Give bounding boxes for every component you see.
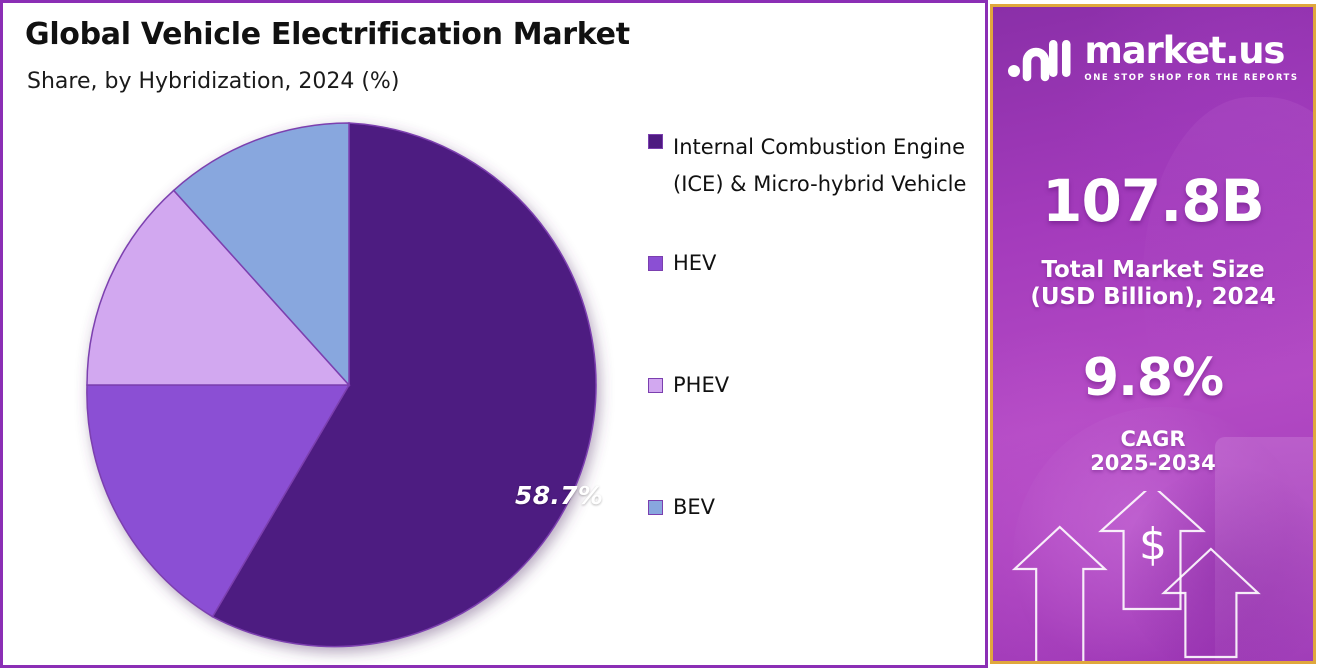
legend-swatch-icon-ice	[648, 134, 663, 149]
pie-slice-label-ice: 58.7%	[515, 481, 603, 510]
stat-panel: market.us ONE STOP SHOP FOR THE REPORTS …	[990, 4, 1316, 664]
legend-label-ice: Internal Combustion Engine (ICE) & Micro…	[673, 129, 968, 203]
chart-title: Global Vehicle Electrification Market	[25, 17, 630, 52]
cagr-caption-line-2: 2025-2034	[993, 451, 1313, 475]
arrow-up-icon-center	[1101, 491, 1203, 609]
cagr-caption-line-1: CAGR	[993, 427, 1313, 451]
infographic-root: Global Vehicle Electrification Market Sh…	[0, 0, 1318, 668]
logo-name: market.us	[1084, 33, 1298, 69]
chart-panel: Global Vehicle Electrification Market Sh…	[0, 0, 988, 668]
legend-item-ice[interactable]: Internal Combustion Engine (ICE) & Micro…	[648, 129, 968, 203]
market-size-caption-line-1: Total Market Size	[993, 257, 1313, 284]
cagr-value: 9.8%	[993, 348, 1313, 408]
legend-swatch-icon-bev	[648, 500, 663, 515]
growth-arrows-graphic	[993, 491, 1313, 661]
legend-label-phev: PHEV	[673, 373, 729, 398]
logo-tagline: ONE STOP SHOP FOR THE REPORTS	[1084, 73, 1298, 83]
market-us-logo-text: market.us ONE STOP SHOP FOR THE REPORTS	[1084, 33, 1298, 83]
arrow-up-icon-right	[1164, 549, 1258, 657]
arrow-up-icon-left	[1015, 527, 1105, 661]
legend-label-hev: HEV	[673, 251, 716, 276]
pie-svg	[63, 108, 643, 668]
market-size-caption: Total Market Size (USD Billion), 2024	[993, 257, 1313, 310]
pie-chart: 58.7%	[63, 108, 643, 668]
market-size-caption-line-2: (USD Billion), 2024	[993, 284, 1313, 311]
legend-swatch-icon-hev	[648, 256, 663, 271]
legend-item-bev[interactable]: BEV	[648, 495, 715, 520]
legend-label-bev: BEV	[673, 495, 715, 520]
pie-slices	[87, 123, 596, 647]
legend-item-hev[interactable]: HEV	[648, 251, 716, 276]
legend-item-phev[interactable]: PHEV	[648, 373, 729, 398]
market-size-value: 107.8B	[993, 167, 1313, 235]
cagr-caption: CAGR 2025-2034	[993, 427, 1313, 476]
legend-swatch-icon-phev	[648, 378, 663, 393]
market-us-logo-icon	[1007, 34, 1073, 82]
chart-subtitle: Share, by Hybridization, 2024 (%)	[27, 69, 399, 94]
market-us-logo[interactable]: market.us ONE STOP SHOP FOR THE REPORTS	[993, 33, 1313, 83]
